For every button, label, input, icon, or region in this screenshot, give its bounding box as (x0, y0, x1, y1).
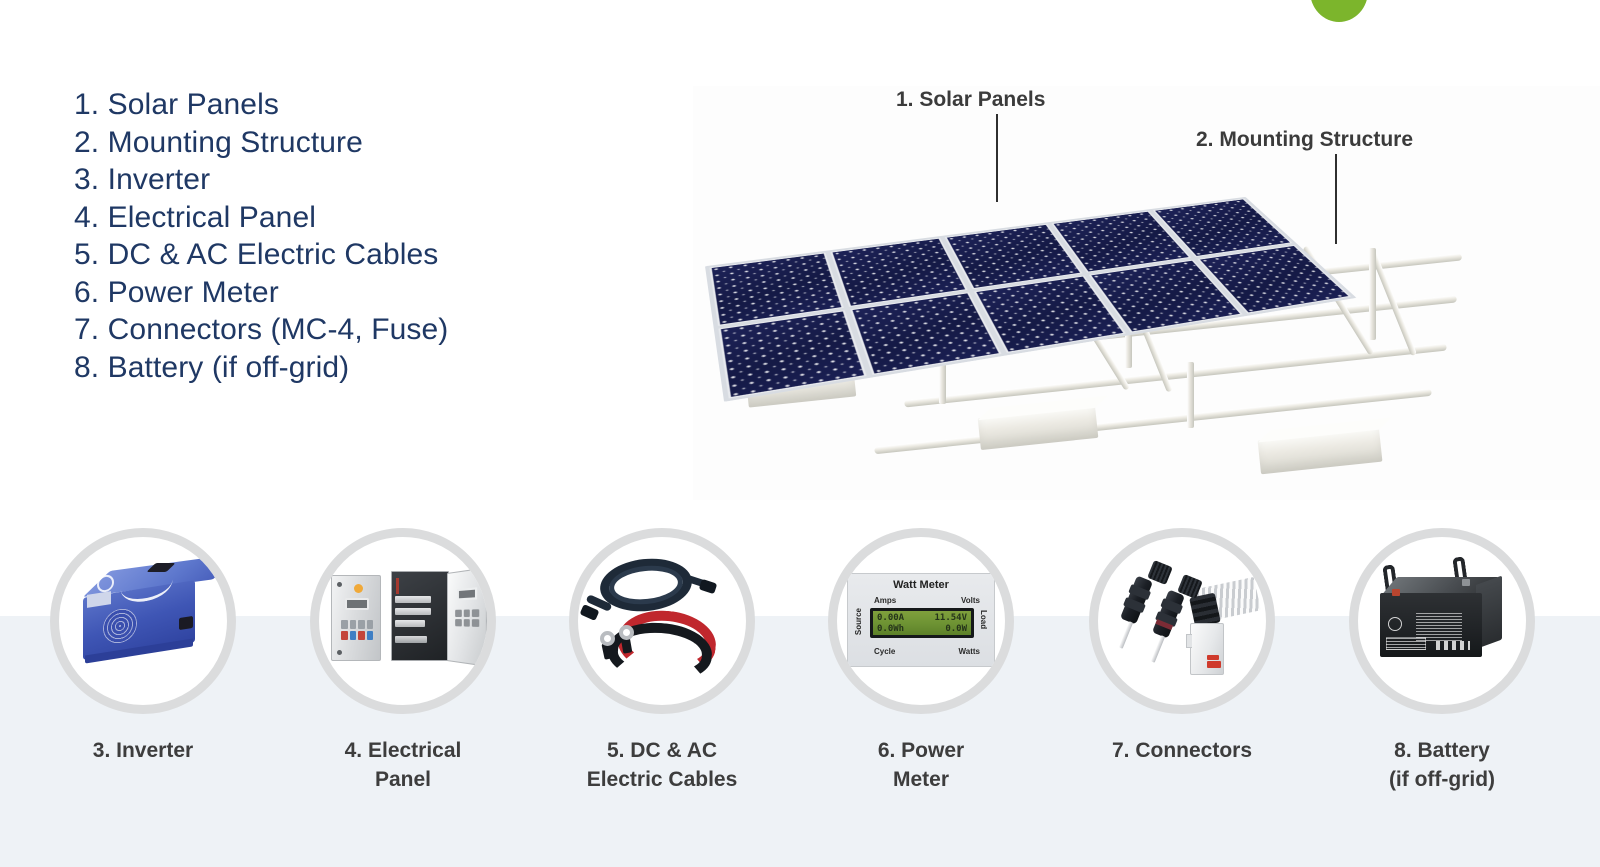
caption-line-1: 4. Electrical (298, 736, 508, 765)
concrete-footing-2 (978, 406, 1099, 450)
list-item-battery: 8. Battery (if off-grid) (74, 349, 654, 387)
watt-meter-title: Watt Meter (848, 579, 994, 591)
watt-meter-volts-label: Volts (961, 596, 980, 605)
circle-frame-cables (569, 528, 755, 714)
gallery-item-connectors[interactable]: 7. Connectors (1077, 528, 1287, 765)
caption-line-2: Meter (816, 765, 1026, 794)
component-gallery: 3. Inverter (0, 528, 1600, 828)
caption-line-1: 8. Battery (1337, 736, 1547, 765)
list-item-electrical-panel: 4. Electrical Panel (74, 199, 654, 237)
list-item-solar-panels: 1. Solar Panels (74, 86, 654, 124)
caption-cables: 5. DC & AC Electric Cables (557, 736, 767, 794)
callout-solar-panels: 1. Solar Panels (896, 88, 1045, 112)
connectors-icon (1098, 537, 1266, 705)
solar-array-illustration: 1. Solar Panels 2. Mounting Structure (693, 86, 1600, 500)
gallery-item-power-meter[interactable]: Watt Meter Amps Volts Cycle Watts Source… (816, 528, 1026, 794)
list-item-inverter: 3. Inverter (74, 161, 654, 199)
gallery-item-cables[interactable]: 5. DC & AC Electric Cables (557, 528, 767, 794)
lcd-watts-value: 0.0W (945, 624, 967, 635)
inverter-icon (59, 537, 227, 705)
watt-meter-amps-label: Amps (874, 596, 896, 605)
cables-icon (578, 537, 746, 705)
infographic-canvas: 1. Solar Panels 2. Mounting Structure 3.… (0, 0, 1600, 867)
caption-line-2: Electric Cables (557, 765, 767, 794)
caption-line-1: 7. Connectors (1077, 736, 1287, 765)
caption-inverter: 3. Inverter (38, 736, 248, 765)
circle-frame-power-meter: Watt Meter Amps Volts Cycle Watts Source… (828, 528, 1014, 714)
circle-frame-battery (1349, 528, 1535, 714)
watt-meter-cycle-label: Cycle (874, 647, 895, 656)
power-meter-icon: Watt Meter Amps Volts Cycle Watts Source… (837, 537, 1005, 705)
caption-connectors: 7. Connectors (1077, 736, 1287, 765)
lcd-amps-value: 0.00A (877, 613, 904, 624)
list-item-cables: 5. DC & AC Electric Cables (74, 236, 654, 274)
watt-meter-lcd-display: 0.00A 11.54V 0.0Wh 0.0W (870, 608, 974, 638)
lcd-volts-value: 11.54V (934, 613, 967, 624)
electrical-panel-icon (319, 537, 487, 705)
lcd-wh-value: 0.0Wh (877, 624, 904, 635)
caption-power-meter: 6. Power Meter (816, 736, 1026, 794)
caption-line-1: 3. Inverter (38, 736, 248, 765)
caption-line-2: (if off-grid) (1337, 765, 1547, 794)
gallery-item-inverter[interactable]: 3. Inverter (38, 528, 248, 765)
mount-post-4 (1369, 248, 1376, 340)
list-item-connectors: 7. Connectors (MC-4, Fuse) (74, 311, 654, 349)
caption-electrical-panel: 4. Electrical Panel (298, 736, 508, 794)
solar-panel-module (850, 292, 1001, 375)
green-leaf-accent-icon (1310, 0, 1368, 22)
fuse-holder-icon (1190, 623, 1224, 675)
circle-frame-connectors (1089, 528, 1275, 714)
solar-panel-array (705, 197, 1357, 402)
concrete-footing-3 (1258, 428, 1383, 475)
circle-frame-inverter (50, 528, 236, 714)
watt-meter-source-label: Source (854, 608, 863, 635)
component-list: 1. Solar Panels 2. Mounting Structure 3.… (74, 86, 654, 386)
watt-meter-load-label: Load (979, 610, 988, 629)
list-item-power-meter: 6. Power Meter (74, 274, 654, 312)
caption-battery: 8. Battery (if off-grid) (1337, 736, 1547, 794)
caption-line-1: 5. DC & AC (557, 736, 767, 765)
circle-frame-electrical-panel (310, 528, 496, 714)
battery-icon (1358, 537, 1526, 705)
caption-line-2: Panel (298, 765, 508, 794)
array-scene (693, 126, 1600, 500)
caption-line-1: 6. Power (816, 736, 1026, 765)
list-item-mounting-structure: 2. Mounting Structure (74, 124, 654, 162)
mount-post-6 (1187, 362, 1194, 428)
watt-meter-watts-label: Watts (959, 647, 980, 656)
gallery-item-battery[interactable]: 8. Battery (if off-grid) (1337, 528, 1547, 794)
gallery-item-electrical-panel[interactable]: 4. Electrical Panel (298, 528, 508, 794)
